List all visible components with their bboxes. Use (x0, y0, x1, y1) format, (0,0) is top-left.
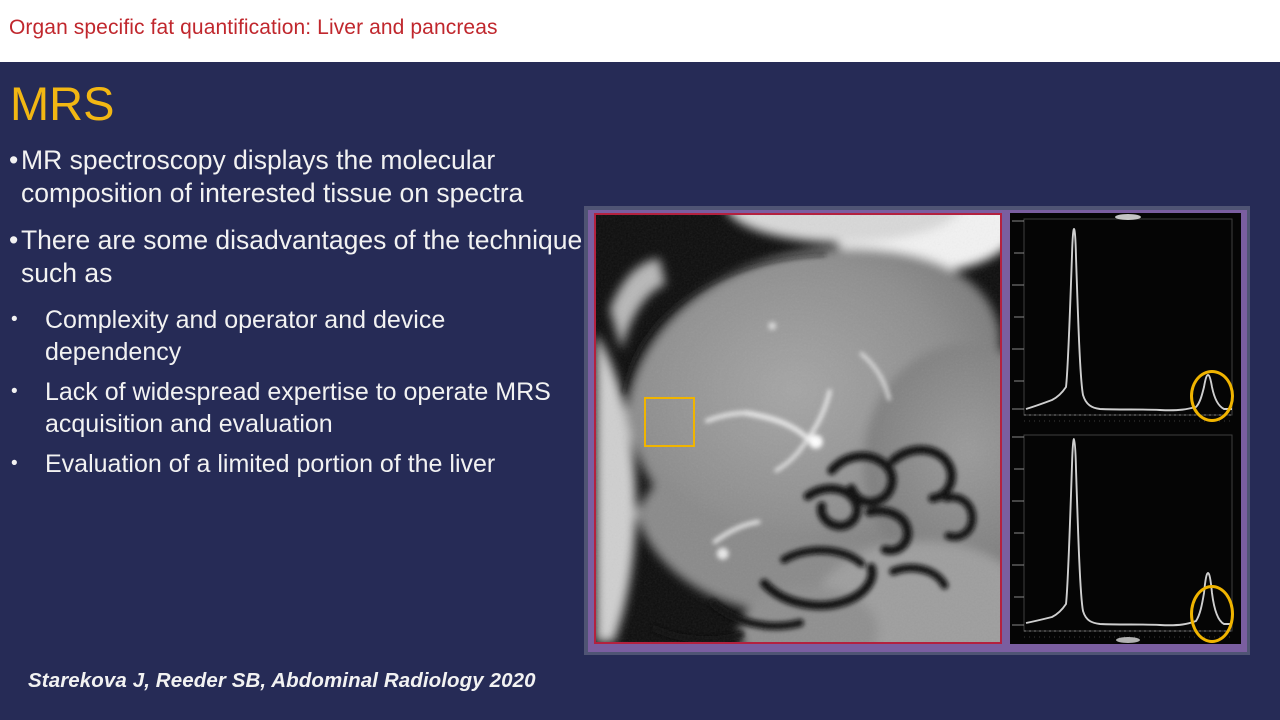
bullet-item-level1: • MR spectroscopy displays the molecular… (0, 144, 585, 210)
bullet-marker-icon: • (9, 224, 18, 257)
slide-body: MRS • MR spectroscopy displays the molec… (0, 62, 1280, 720)
page-title: MRS (10, 80, 114, 127)
mri-image-panel (594, 213, 1002, 644)
bullet-marker-icon: • (11, 303, 18, 336)
fat-peak-highlight-circle-top (1190, 370, 1234, 422)
bullet-marker-icon: • (9, 144, 18, 177)
bullet-text: Evaluation of a limited portion of the l… (45, 450, 495, 478)
bullet-item-level1: • There are some disadvantages of the te… (0, 224, 585, 290)
figure-group (584, 206, 1250, 655)
bullet-list: • MR spectroscopy displays the molecular… (0, 144, 585, 488)
mrs-voxel-box (644, 397, 695, 447)
bullet-text: Lack of widespread expertise to operate … (45, 378, 551, 438)
bullet-item-level2: • Complexity and operator and device dep… (0, 304, 585, 368)
bullet-text: There are some disadvantages of the tech… (21, 225, 582, 288)
bullet-marker-icon: • (11, 375, 18, 408)
bullet-text: Complexity and operator and device depen… (45, 306, 445, 366)
header-band: Organ specific fat quantification: Liver… (0, 0, 1280, 62)
header-title: Organ specific fat quantification: Liver… (9, 16, 498, 40)
fat-peak-highlight-circle-bottom (1190, 585, 1234, 643)
bullet-item-level2: • Evaluation of a limited portion of the… (0, 448, 585, 480)
mrs-spectra-panel (1010, 213, 1241, 644)
bullet-item-level2: • Lack of widespread expertise to operat… (0, 376, 585, 440)
bullet-text: MR spectroscopy displays the molecular c… (21, 145, 523, 208)
citation-text: Starekova J, Reeder SB, Abdominal Radiol… (28, 669, 536, 693)
slide: Organ specific fat quantification: Liver… (0, 0, 1280, 720)
bullet-marker-icon: • (11, 447, 18, 480)
